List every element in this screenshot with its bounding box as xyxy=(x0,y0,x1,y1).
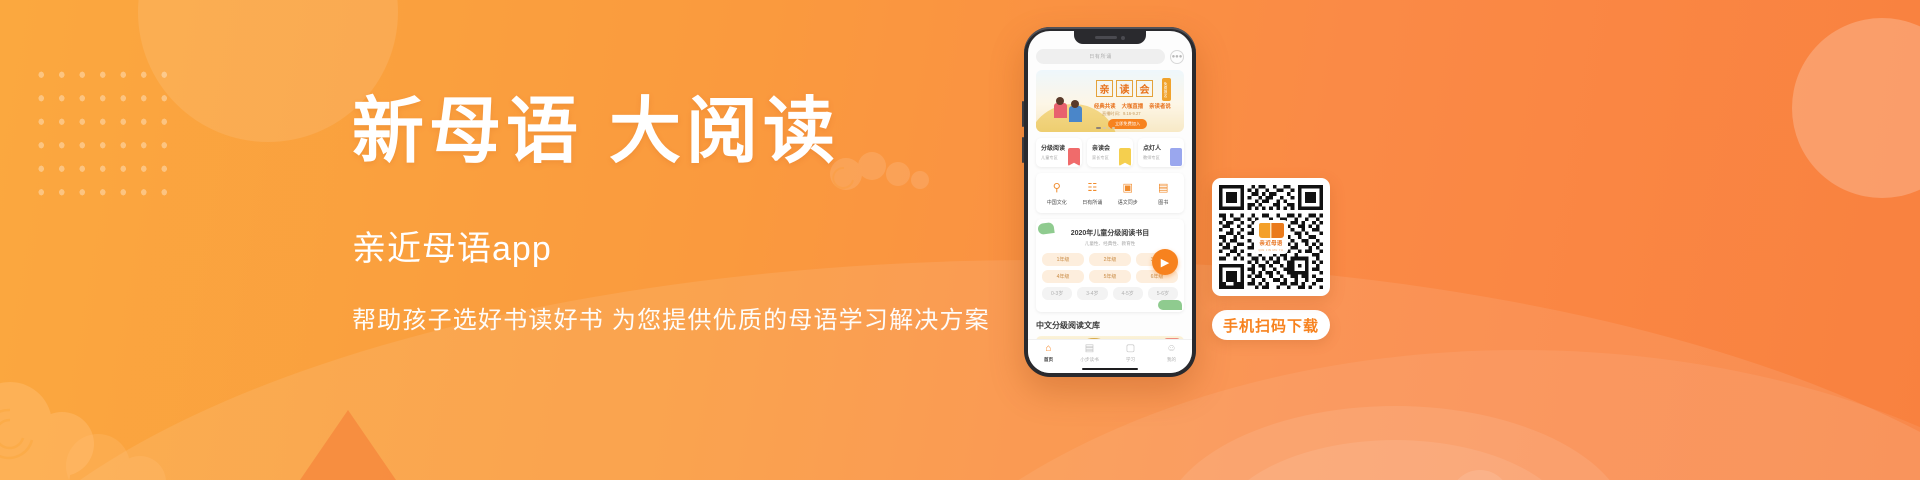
age-pill[interactable]: 3-4岁 xyxy=(1077,287,1107,300)
category-cards: 分级阅读 儿童专区 亲读会 家长专区 点灯人 教师专区 xyxy=(1036,138,1184,167)
hero-sub-item: 经典共读 xyxy=(1094,102,1116,110)
grade-pill[interactable]: 2年级 xyxy=(1089,253,1131,266)
person-icon xyxy=(1170,148,1182,166)
grade-pill[interactable]: 4年级 xyxy=(1042,270,1084,283)
carousel-dot[interactable] xyxy=(1103,127,1106,130)
category-card[interactable]: 亲读会 家长专区 xyxy=(1087,138,1133,167)
quick-link-label: 语文同步 xyxy=(1110,199,1146,206)
hero-child-illustration-1 xyxy=(1054,103,1067,118)
scroll-icon: ⚲ xyxy=(1049,180,1064,195)
home-indicator xyxy=(1082,368,1138,371)
profile-icon: ☺ xyxy=(1151,344,1192,354)
hero-child-illustration-2 xyxy=(1069,106,1082,122)
category-card[interactable]: 点灯人 教师专区 xyxy=(1138,138,1184,167)
book-logo-icon xyxy=(1259,223,1284,238)
promo-banner: 新母语大阅读 亲近母语app 帮助孩子选好书读好书 为您提供优质的母语学习解决方… xyxy=(0,0,1920,480)
hero-sub-item: 大咖直播 xyxy=(1122,102,1144,110)
library-section-title: 中文分级阅读文库 xyxy=(1036,320,1184,331)
message-icon[interactable]: ●●● xyxy=(1170,50,1184,64)
decorative-glow-ring xyxy=(1160,406,1630,480)
qr-download-block: 亲近母语 QIN JIN MU YU 手机扫码下载 xyxy=(1212,178,1330,340)
grade-row: 0-3岁 3-4岁 4-5岁 5-6岁 xyxy=(1042,287,1178,300)
search-input[interactable]: 日有所诵 xyxy=(1036,49,1165,64)
qr-code-card: 亲近母语 QIN JIN MU YU xyxy=(1212,178,1330,296)
phone-mockup: 日有所诵 ●●● 亲 读 会 免费报名 经典共读 xyxy=(1024,27,1196,377)
bottom-tab-bar: ⌂ 首页 ▤ 小步读书 ▢ 学习 ☺ 我的 xyxy=(1028,339,1192,373)
speaker-icon xyxy=(1095,36,1117,39)
reading-list-title: 2020年儿童分级阅读书目 xyxy=(1042,228,1178,238)
app-name: 亲近母语app xyxy=(352,221,1052,270)
hero-title-char: 会 xyxy=(1136,80,1153,97)
age-pill[interactable]: 0-3岁 xyxy=(1042,287,1072,300)
tab-label: 学习 xyxy=(1110,357,1151,363)
leaf-decoration-icon xyxy=(1158,300,1182,310)
headline-part-2: 大阅读 xyxy=(609,92,840,172)
sync-icon: ▣ xyxy=(1120,180,1135,195)
tab-reading[interactable]: ▤ 小步读书 xyxy=(1069,344,1110,363)
leaf-decoration-icon xyxy=(1037,222,1054,235)
hero-title: 亲 读 会 xyxy=(1096,80,1153,97)
bookmark-icon xyxy=(1068,148,1080,166)
quick-link-daily-recite[interactable]: ☷ 日有所诵 xyxy=(1075,180,1111,206)
hero-subtitle: 经典共读 大咖直播 亲读者说 xyxy=(1094,102,1171,110)
hero-badge: 免费报名 xyxy=(1162,78,1171,101)
decorative-glow-ring-inner xyxy=(1215,440,1575,480)
age-pill[interactable]: 5-6岁 xyxy=(1148,287,1178,300)
tab-study[interactable]: ▢ 学习 xyxy=(1110,344,1151,363)
decorative-cloud-bottom-left xyxy=(0,380,116,480)
notebook-icon: ▤ xyxy=(1069,344,1110,354)
tab-label: 小步读书 xyxy=(1069,357,1110,363)
play-button-icon[interactable]: ▶ xyxy=(1152,249,1178,275)
carousel-dot[interactable] xyxy=(1096,127,1101,130)
home-icon: ⌂ xyxy=(1028,344,1069,354)
clipboard-icon: ▢ xyxy=(1110,344,1151,354)
hero-sub-item: 亲读者说 xyxy=(1149,102,1171,110)
app-search-row: 日有所诵 ●●● xyxy=(1036,49,1184,64)
decorative-hill-secondary xyxy=(820,350,1920,480)
quick-link-label: 中国文化 xyxy=(1039,199,1075,206)
reading-list-card: 2020年儿童分级阅读书目 儿童性、经典性、教育性 1年级 2年级 3年级 4年… xyxy=(1036,219,1184,312)
quick-link-grid: ⚲ 中国文化 ☷ 日有所诵 ▣ 语文同步 ▤ 图书 xyxy=(1036,173,1184,213)
download-button[interactable]: 手机扫码下载 xyxy=(1212,310,1330,340)
tab-label: 我的 xyxy=(1151,357,1192,363)
bookmark-icon xyxy=(1119,148,1131,166)
reading-list-subtitle: 儿童性、经典性、教育性 xyxy=(1042,241,1178,247)
tab-label: 首页 xyxy=(1028,357,1069,363)
category-card[interactable]: 分级阅读 儿童专区 xyxy=(1036,138,1082,167)
tab-home[interactable]: ⌂ 首页 xyxy=(1028,344,1069,363)
decorative-dot-grid xyxy=(28,60,170,210)
hero-title-char: 读 xyxy=(1116,80,1133,97)
decorative-pyramid xyxy=(300,410,396,480)
quick-link-label: 日有所诵 xyxy=(1075,199,1111,206)
carousel-dot[interactable] xyxy=(1112,127,1115,130)
decorative-circle-top-right xyxy=(1792,18,1920,198)
page-title: 新母语大阅读 xyxy=(352,92,1052,173)
logo-name-cn: 亲近母语 xyxy=(1259,239,1282,247)
age-pill[interactable]: 4-5岁 xyxy=(1113,287,1143,300)
phone-notch xyxy=(1074,31,1146,44)
hero-title-char: 亲 xyxy=(1096,80,1113,97)
quick-link-label: 图书 xyxy=(1146,199,1182,206)
quick-link-chinese-sync[interactable]: ▣ 语文同步 xyxy=(1110,180,1146,206)
hero-banner[interactable]: 亲 读 会 免费报名 经典共读 大咖直播 亲读者说 直播时间：9.16-9.27… xyxy=(1036,70,1184,132)
app-content: 日有所诵 ●●● 亲 读 会 免费报名 经典共读 xyxy=(1028,31,1192,354)
headline-part-1: 新母语 xyxy=(352,92,583,172)
banner-copy: 新母语大阅读 亲近母语app 帮助孩子选好书读好书 为您提供优质的母语学习解决方… xyxy=(352,92,1052,335)
camera-icon xyxy=(1121,36,1125,40)
grade-pill[interactable]: 1年级 xyxy=(1042,253,1084,266)
grade-pill[interactable]: 5年级 xyxy=(1089,270,1131,283)
decorative-cloud-bottom-right xyxy=(1440,454,1580,480)
search-placeholder: 日有所诵 xyxy=(1089,53,1112,60)
phone-screen: 日有所诵 ●●● 亲 读 会 免费报名 经典共读 xyxy=(1028,31,1192,373)
qr-center-logo: 亲近母语 QIN JIN MU YU xyxy=(1254,220,1288,254)
tab-profile[interactable]: ☺ 我的 xyxy=(1151,344,1192,363)
logo-name-en: QIN JIN MU YU xyxy=(1259,248,1284,252)
book-icon: ☷ xyxy=(1085,180,1100,195)
quick-link-books[interactable]: ▤ 图书 xyxy=(1146,180,1182,206)
carousel-dot[interactable] xyxy=(1108,127,1111,130)
quick-link-china-culture[interactable]: ⚲ 中国文化 xyxy=(1039,180,1075,206)
hero-date: 直播时间：9.16-9.27 xyxy=(1102,111,1141,117)
carousel-dots[interactable] xyxy=(1096,127,1115,130)
decorative-cloud-mid-left xyxy=(62,426,182,480)
banner-tagline: 帮助孩子选好书读好书 为您提供优质的母语学习解决方案 xyxy=(352,300,1052,335)
library-icon: ▤ xyxy=(1156,180,1171,195)
